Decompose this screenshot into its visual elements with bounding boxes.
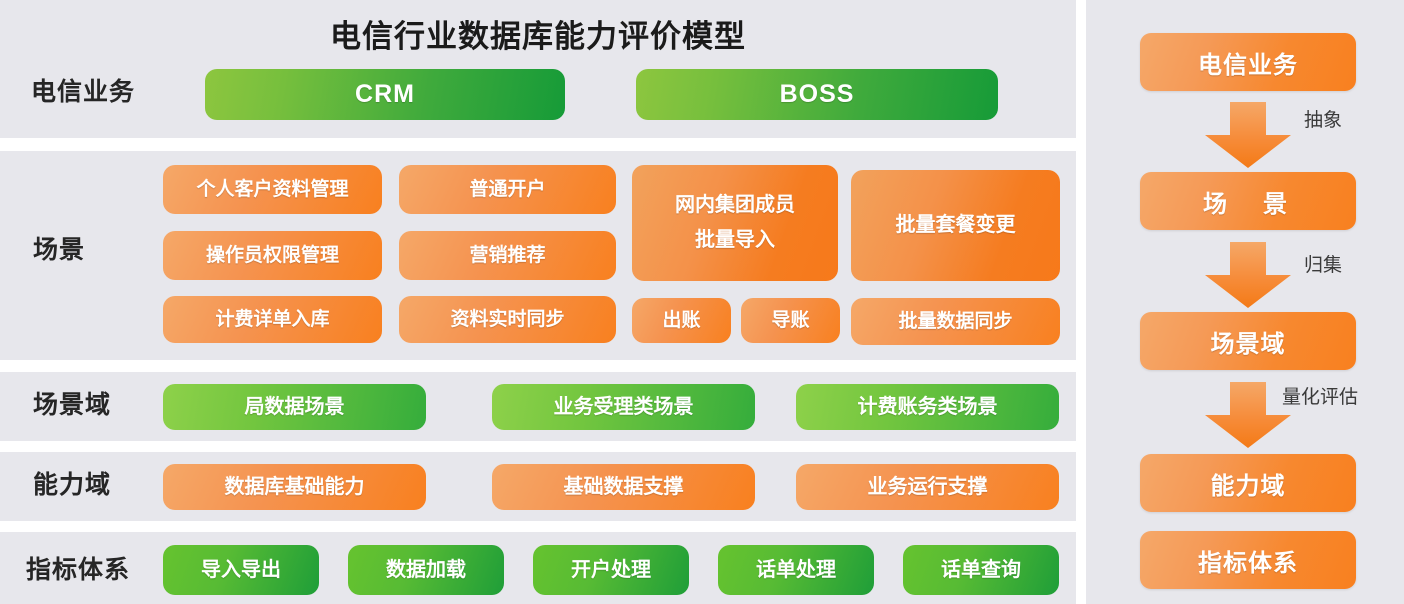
flow-box-scene-domain[interactable]: 场景域	[1140, 312, 1356, 370]
row-label-scene-domain: 场景域	[33, 393, 111, 418]
capability-box-database-basic[interactable]: 数据库基础能力	[163, 464, 426, 510]
flow-label-quantitative-evaluation: 量化评估	[1282, 382, 1358, 409]
scene-box-bulk-data-sync[interactable]: 批量数据同步	[851, 298, 1060, 345]
flow-box-scene[interactable]: 场 景	[1140, 172, 1356, 230]
scene-box-group-member-bulk-import-line1: 网内集团成员	[675, 193, 795, 218]
scene-box-account-export[interactable]: 导账	[741, 298, 840, 343]
scene-box-billing[interactable]: 出账	[632, 298, 731, 343]
scene-box-marketing-recommend[interactable]: 营销推荐	[399, 231, 616, 280]
indicator-box-cdr-process[interactable]: 话单处理	[718, 545, 874, 595]
capability-box-business-operation-support[interactable]: 业务运行支撑	[796, 464, 1059, 510]
indicator-box-data-load[interactable]: 数据加载	[348, 545, 504, 595]
indicator-box-import-export[interactable]: 导入导出	[163, 545, 319, 595]
down-arrow-icon	[1205, 102, 1291, 168]
diagram-root: 电信行业数据库能力评价模型 电信业务 CRM BOSS 场景 个人客户资料管理 …	[0, 0, 1404, 604]
scene-box-group-member-bulk-import[interactable]: 网内集团成员 批量导入	[632, 165, 838, 281]
page-title: 电信行业数据库能力评价模型	[0, 11, 1076, 56]
flow-box-telecom-business[interactable]: 电信业务	[1140, 33, 1356, 91]
row-label-scene: 场景	[33, 238, 85, 263]
row-label-indicator-system: 指标体系	[26, 558, 130, 583]
scene-box-bulk-package-change[interactable]: 批量套餐变更	[851, 170, 1060, 281]
indicator-box-account-open-process[interactable]: 开户处理	[533, 545, 689, 595]
flow-label-abstract: 抽象	[1304, 105, 1342, 132]
scene-domain-box-service-handling[interactable]: 业务受理类场景	[492, 384, 755, 430]
flow-label-aggregate: 归集	[1304, 250, 1342, 277]
scene-box-operator-permission[interactable]: 操作员权限管理	[163, 231, 382, 280]
scene-box-personal-customer-profile[interactable]: 个人客户资料管理	[163, 165, 382, 214]
scene-box-normal-account-open[interactable]: 普通开户	[399, 165, 616, 214]
row-label-telecom-business: 电信业务	[31, 80, 135, 105]
flow-box-indicator-system[interactable]: 指标体系	[1140, 531, 1356, 589]
down-arrow-icon-3	[1205, 382, 1291, 448]
capability-model-panel: 电信行业数据库能力评价模型 电信业务 CRM BOSS 场景 个人客户资料管理 …	[0, 0, 1076, 604]
scene-domain-box-bureau-data[interactable]: 局数据场景	[163, 384, 426, 430]
flow-box-capability-domain[interactable]: 能力域	[1140, 454, 1356, 512]
scene-domain-box-billing-account[interactable]: 计费账务类场景	[796, 384, 1059, 430]
row-label-capability-domain: 能力域	[33, 473, 111, 498]
abstraction-flow-panel: 电信业务 抽象 场 景	[1086, 0, 1404, 604]
scene-box-group-member-bulk-import-line2: 批量导入	[695, 228, 775, 253]
scene-box-realtime-profile-sync[interactable]: 资料实时同步	[399, 296, 616, 343]
indicator-box-cdr-query[interactable]: 话单查询	[903, 545, 1059, 595]
business-box-crm[interactable]: CRM	[205, 69, 565, 120]
capability-box-basic-data-support[interactable]: 基础数据支撑	[492, 464, 755, 510]
business-box-boss[interactable]: BOSS	[636, 69, 998, 120]
scene-box-billing-detail-load[interactable]: 计费详单入库	[163, 296, 382, 343]
down-arrow-icon-2	[1205, 242, 1291, 308]
